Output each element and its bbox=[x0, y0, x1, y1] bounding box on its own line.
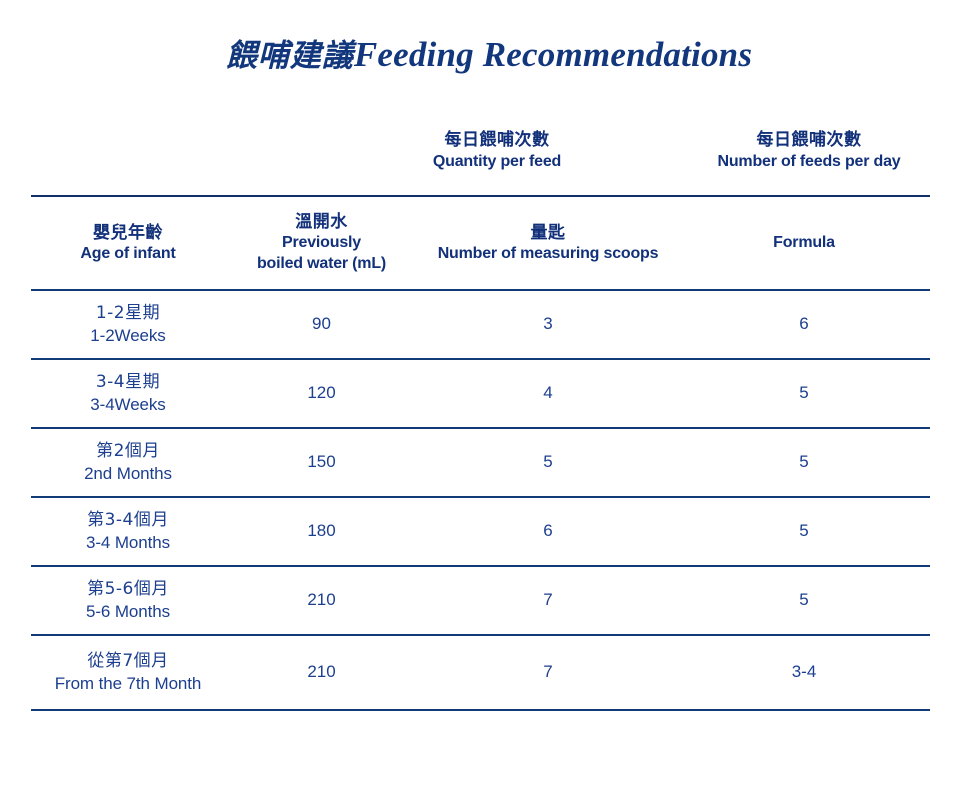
cell-scoops: 4 bbox=[418, 382, 678, 405]
cell-age: 第3-4個月 3-4 Months bbox=[31, 509, 225, 555]
column-header-water-chinese: 溫開水 bbox=[225, 211, 418, 233]
column-header-water-english-line1: Previously bbox=[225, 233, 418, 254]
column-header-row: 嬰兒年齡 Age of infant 溫開水 Previously boiled… bbox=[31, 197, 930, 289]
column-header-scoops-chinese: 量匙 bbox=[418, 222, 678, 244]
cell-water: 120 bbox=[225, 382, 418, 405]
group-header-quantity-chinese: 每日餵哺次數 bbox=[347, 130, 647, 152]
column-header-scoops-english: Number of measuring scoops bbox=[418, 244, 678, 265]
cell-age-chinese: 第5-6個月 bbox=[31, 578, 225, 601]
cell-age: 1-2星期 1-2Weeks bbox=[31, 302, 225, 348]
cell-formula: 3-4 bbox=[678, 661, 930, 684]
cell-age-english: 2nd Months bbox=[31, 463, 225, 486]
table-row: 第2個月 2nd Months 150 5 5 bbox=[31, 429, 930, 496]
table-row: 1-2星期 1-2Weeks 90 3 6 bbox=[31, 291, 930, 358]
cell-age-english: 1-2Weeks bbox=[31, 325, 225, 348]
cell-scoops: 5 bbox=[418, 451, 678, 474]
table-row: 從第7個月 From the 7th Month 210 7 3-4 bbox=[31, 636, 930, 709]
group-header-band: 每日餵哺次數 Quantity per feed 每日餵哺次數 Number o… bbox=[31, 130, 930, 195]
column-header-formula: Formula bbox=[678, 233, 930, 254]
column-header-formula-english: Formula bbox=[678, 233, 930, 254]
cell-formula: 6 bbox=[678, 313, 930, 336]
cell-scoops: 7 bbox=[418, 589, 678, 612]
cell-water: 210 bbox=[225, 589, 418, 612]
table-row: 第5-6個月 5-6 Months 210 7 5 bbox=[31, 567, 930, 634]
group-header-feeds-per-day: 每日餵哺次數 Number of feeds per day bbox=[659, 130, 959, 172]
cell-age-english: 3-4 Months bbox=[31, 532, 225, 555]
column-header-age-of-infant: 嬰兒年齡 Age of infant bbox=[31, 222, 225, 265]
cell-water: 210 bbox=[225, 661, 418, 684]
column-header-age-english: Age of infant bbox=[31, 244, 225, 265]
cell-age: 從第7個月 From the 7th Month bbox=[31, 650, 225, 696]
column-header-age-chinese: 嬰兒年齡 bbox=[31, 222, 225, 244]
page-title: 餵哺建議Feeding Recommendations bbox=[0, 30, 978, 75]
cell-age-chinese: 3-4星期 bbox=[31, 371, 225, 394]
cell-age-chinese: 第2個月 bbox=[31, 440, 225, 463]
group-header-feeds-chinese: 每日餵哺次數 bbox=[659, 130, 959, 152]
cell-age-english: 5-6 Months bbox=[31, 601, 225, 624]
group-header-quantity-english: Quantity per feed bbox=[347, 152, 647, 172]
page-root: 餵哺建議Feeding Recommendations 每日餵哺次數 Quant… bbox=[0, 0, 978, 794]
table-row: 3-4星期 3-4Weeks 120 4 5 bbox=[31, 360, 930, 427]
group-header-feeds-english: Number of feeds per day bbox=[659, 152, 959, 172]
cell-age-chinese: 從第7個月 bbox=[31, 650, 225, 673]
feeding-recommendations-table: 每日餵哺次數 Quantity per feed 每日餵哺次數 Number o… bbox=[31, 130, 930, 711]
cell-water: 150 bbox=[225, 451, 418, 474]
cell-scoops: 3 bbox=[418, 313, 678, 336]
cell-formula: 5 bbox=[678, 589, 930, 612]
table-bottom-rule bbox=[31, 709, 930, 711]
cell-age: 第5-6個月 5-6 Months bbox=[31, 578, 225, 624]
cell-age-english: From the 7th Month bbox=[31, 673, 225, 696]
cell-water: 90 bbox=[225, 313, 418, 336]
page-title-english: Feeding Recommendations bbox=[354, 35, 752, 74]
column-header-water-english-line2: boiled water (mL) bbox=[225, 254, 418, 275]
cell-formula: 5 bbox=[678, 451, 930, 474]
page-title-chinese: 餵哺建議 bbox=[226, 38, 354, 74]
group-header-quantity-per-feed: 每日餵哺次數 Quantity per feed bbox=[347, 130, 647, 172]
cell-formula: 5 bbox=[678, 520, 930, 543]
cell-age-chinese: 1-2星期 bbox=[31, 302, 225, 325]
cell-formula: 5 bbox=[678, 382, 930, 405]
cell-age-english: 3-4Weeks bbox=[31, 394, 225, 417]
cell-age-chinese: 第3-4個月 bbox=[31, 509, 225, 532]
cell-age: 3-4星期 3-4Weeks bbox=[31, 371, 225, 417]
column-header-measuring-scoops: 量匙 Number of measuring scoops bbox=[418, 222, 678, 265]
cell-scoops: 7 bbox=[418, 661, 678, 684]
cell-age: 第2個月 2nd Months bbox=[31, 440, 225, 486]
column-header-boiled-water: 溫開水 Previously boiled water (mL) bbox=[225, 211, 418, 275]
cell-water: 180 bbox=[225, 520, 418, 543]
table-row: 第3-4個月 3-4 Months 180 6 5 bbox=[31, 498, 930, 565]
cell-scoops: 6 bbox=[418, 520, 678, 543]
